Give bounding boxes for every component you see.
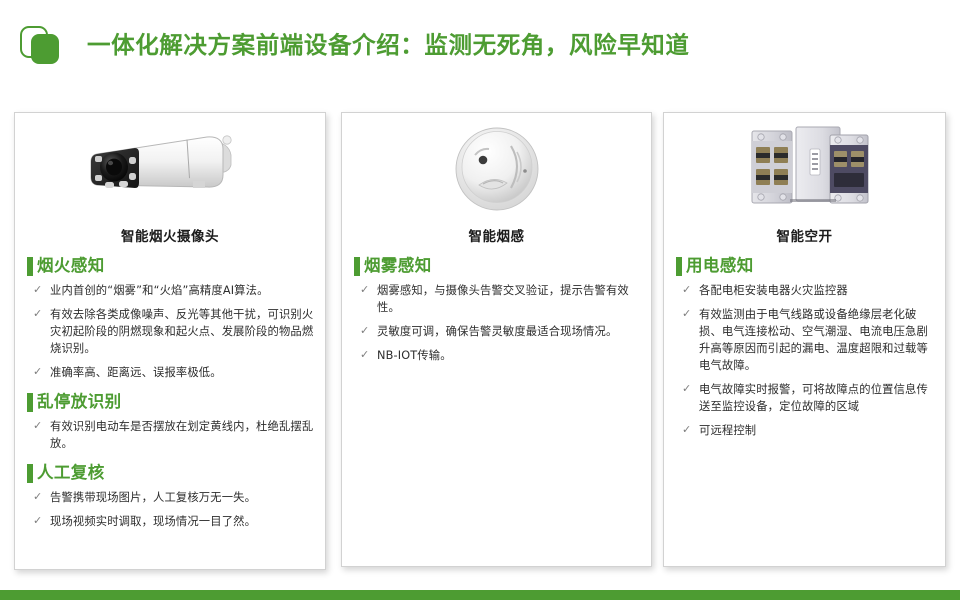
list-item-text: NB-IOT传输。 [377, 347, 452, 364]
list-item: ✓ 灵敏度可调，确保告警灵敏度最适合现场情况。 [360, 323, 641, 340]
list-item: ✓ 各配电柜安装电器火灾监控器 [682, 282, 935, 299]
smoke-detector-image [342, 119, 651, 215]
list-item: ✓ 告警携带现场图片，人工复核万无一失。 [33, 489, 315, 506]
section-heading-0-2: 人工复核 [27, 464, 325, 483]
list-item-text: 业内首创的“烟雾”和“火焰”高精度AI算法。 [50, 282, 269, 299]
bullet-list-0-1: ✓ 有效识别电动车是否摆放在划定黄线内，杜绝乱摆乱放。 [33, 418, 315, 452]
list-item: ✓ 准确率高、距离远、误报率极低。 [33, 364, 315, 381]
green-bar-marker [27, 393, 33, 412]
bullet-list-2-0: ✓ 各配电柜安装电器火灾监控器 ✓ 有效监测由于电气线路或设备绝缘层老化破损、电… [682, 282, 935, 439]
list-item-text: 有效监测由于电气线路或设备绝缘层老化破损、电气连接松动、空气潮湿、电流电压急剧升… [699, 306, 935, 374]
bullet-list-0-2: ✓ 告警携带现场图片，人工复核万无一失。 ✓ 现场视频实时调取，现场情况一目了然… [33, 489, 315, 530]
list-item-text: 准确率高、距离远、误报率极低。 [50, 364, 222, 381]
section-title: 人工复核 [37, 465, 105, 482]
list-item: ✓ 有效识别电动车是否摆放在划定黄线内，杜绝乱摆乱放。 [33, 418, 315, 452]
section-heading-0-1: 乱停放识别 [27, 393, 325, 412]
list-item-text: 告警携带现场图片，人工复核万无一失。 [50, 489, 256, 506]
card-smart-breaker[interactable]: 智能空开 用电感知 ✓ 各配电柜安装电器火灾监控器 ✓ 有效监测由于电气线路或设… [663, 112, 946, 567]
section-title: 烟雾感知 [364, 258, 432, 275]
card-caption: 智能烟感 [342, 225, 651, 245]
check-icon: ✓ [33, 364, 50, 381]
check-icon: ✓ [33, 513, 50, 530]
list-item-text: 有效去除各类成像噪声、反光等其他干扰，可识别火灾初起阶段的阴燃现象和起火点、发展… [50, 306, 315, 357]
section-heading-2-0: 用电感知 [676, 257, 945, 276]
check-icon: ✓ [360, 282, 377, 299]
list-item: ✓ 现场视频实时调取，现场情况一目了然。 [33, 513, 315, 530]
list-item: ✓ 烟雾感知，与摄像头告警交叉验证，提示告警有效性。 [360, 282, 641, 316]
check-icon: ✓ [33, 418, 50, 435]
overlapping-squares-icon [16, 24, 64, 68]
list-item-text: 各配电柜安装电器火灾监控器 [699, 282, 848, 299]
check-icon: ✓ [33, 306, 50, 323]
square-filled-shape [31, 34, 59, 64]
section-heading-0-0: 烟火感知 [27, 257, 325, 276]
list-item: ✓ 业内首创的“烟雾”和“火焰”高精度AI算法。 [33, 282, 315, 299]
check-icon: ✓ [682, 422, 699, 439]
list-item: ✓ 可远程控制 [682, 422, 935, 439]
card-smoke-detector[interactable]: 智能烟感 烟雾感知 ✓ 烟雾感知，与摄像头告警交叉验证，提示告警有效性。 ✓ 灵… [341, 112, 652, 567]
bullet-camera-image [15, 119, 325, 215]
card-caption: 智能烟火摄像头 [15, 225, 325, 245]
list-item: ✓ 有效监测由于电气线路或设备绝缘层老化破损、电气连接松动、空气潮湿、电流电压急… [682, 306, 935, 374]
check-icon: ✓ [682, 306, 699, 323]
bullet-list-1-0: ✓ 烟雾感知，与摄像头告警交叉验证，提示告警有效性。 ✓ 灵敏度可调，确保告警灵… [360, 282, 641, 364]
smoke-detector-art [437, 119, 557, 215]
check-icon: ✓ [360, 323, 377, 340]
green-bar-marker [27, 257, 33, 276]
list-item-text: 电气故障实时报警，可将故障点的位置信息传送至监控设备，定位故障的区域 [699, 381, 935, 415]
page-title: 一体化解决方案前端设备介绍：监测无死角，风险早知道 [87, 34, 690, 58]
footer-accent-bar [0, 590, 960, 600]
check-icon: ✓ [682, 381, 699, 398]
cards-row: 智能烟火摄像头 烟火感知 ✓ 业内首创的“烟雾”和“火焰”高精度AI算法。 ✓ … [0, 112, 960, 574]
list-item: ✓ NB-IOT传输。 [360, 347, 641, 364]
circuit-breaker-art [730, 119, 880, 215]
section-title: 用电感知 [686, 258, 754, 275]
section-title: 烟火感知 [37, 258, 105, 275]
list-item-text: 现场视频实时调取，现场情况一目了然。 [50, 513, 256, 530]
check-icon: ✓ [360, 347, 377, 364]
list-item-text: 有效识别电动车是否摆放在划定黄线内，杜绝乱摆乱放。 [50, 418, 315, 452]
green-bar-marker [676, 257, 682, 276]
check-icon: ✓ [682, 282, 699, 299]
card-caption: 智能空开 [664, 225, 945, 245]
bullet-camera-art [75, 119, 265, 215]
list-item-text: 可远程控制 [699, 422, 756, 439]
section-title: 乱停放识别 [37, 394, 122, 411]
list-item: ✓ 电气故障实时报警，可将故障点的位置信息传送至监控设备，定位故障的区域 [682, 381, 935, 415]
card-smart-camera[interactable]: 智能烟火摄像头 烟火感知 ✓ 业内首创的“烟雾”和“火焰”高精度AI算法。 ✓ … [14, 112, 326, 570]
list-item-text: 烟雾感知，与摄像头告警交叉验证，提示告警有效性。 [377, 282, 641, 316]
green-bar-marker [27, 464, 33, 483]
green-bar-marker [354, 257, 360, 276]
slide-root: 一体化解决方案前端设备介绍：监测无死角，风险早知道 [0, 0, 960, 600]
bullet-list-0-0: ✓ 业内首创的“烟雾”和“火焰”高精度AI算法。 ✓ 有效去除各类成像噪声、反光… [33, 282, 315, 381]
check-icon: ✓ [33, 489, 50, 506]
slide-header: 一体化解决方案前端设备介绍：监测无死角，风险早知道 [0, 0, 960, 92]
circuit-breaker-image [664, 119, 945, 215]
list-item-text: 灵敏度可调，确保告警灵敏度最适合现场情况。 [377, 323, 617, 340]
list-item: ✓ 有效去除各类成像噪声、反光等其他干扰，可识别火灾初起阶段的阴燃现象和起火点、… [33, 306, 315, 357]
section-heading-1-0: 烟雾感知 [354, 257, 651, 276]
check-icon: ✓ [33, 282, 50, 299]
